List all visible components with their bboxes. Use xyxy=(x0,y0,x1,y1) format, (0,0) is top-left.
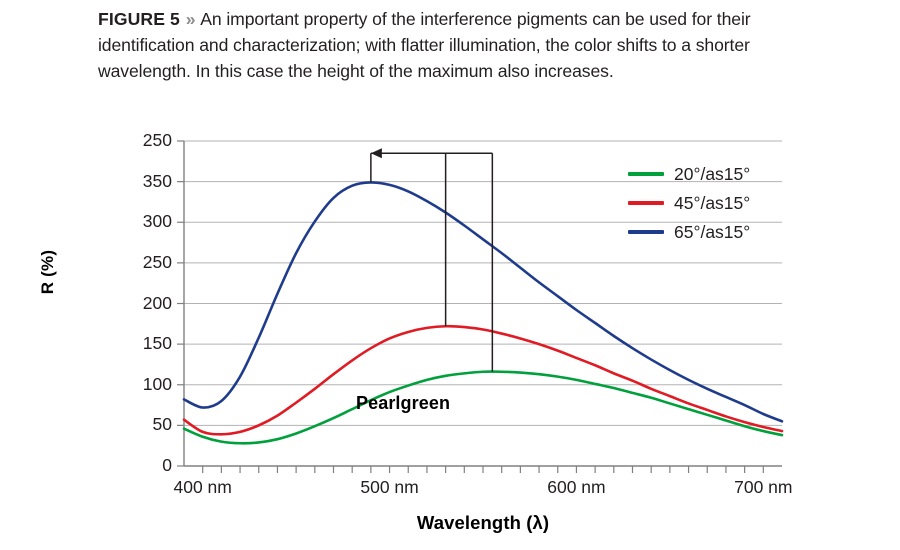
y-axis-title: R (%) xyxy=(38,212,58,332)
y-tick-label: 0 xyxy=(116,455,172,476)
x-tick-label: 600 nm xyxy=(531,477,621,498)
y-tick-label: 150 xyxy=(116,333,172,354)
y-axis-ticks xyxy=(177,141,184,466)
x-tick-label: 500 nm xyxy=(345,477,435,498)
chart-legend: 20°/as15°45°/as15°65°/as15° xyxy=(628,163,750,243)
x-tick-label: 700 nm xyxy=(718,477,808,498)
y-tick-label: 50 xyxy=(116,414,172,435)
pearlgreen-annotation-label: Pearlgreen xyxy=(356,393,450,414)
y-tick-label: 100 xyxy=(116,374,172,395)
shift-arrow-head xyxy=(371,148,382,158)
legend-label: 20°/as15° xyxy=(674,164,750,185)
y-tick-label: 300 xyxy=(116,211,172,232)
legend-item: 20°/as15° xyxy=(628,163,750,185)
chart-container: R (%) Wavelength (λ) 0501001502002503003… xyxy=(0,0,900,550)
y-tick-label: 250 xyxy=(116,130,172,151)
y-tick-label: 250 xyxy=(116,252,172,273)
x-axis-title: Wavelength (λ) xyxy=(184,512,782,534)
x-axis-minor-ticks xyxy=(203,466,764,473)
series-line xyxy=(184,326,782,434)
legend-item: 65°/as15° xyxy=(628,221,750,243)
legend-color-swatch xyxy=(628,201,664,205)
legend-color-swatch xyxy=(628,230,664,234)
legend-label: 65°/as15° xyxy=(674,222,750,243)
y-tick-label: 350 xyxy=(116,171,172,192)
legend-item: 45°/as15° xyxy=(628,192,750,214)
x-tick-label: 400 nm xyxy=(158,477,248,498)
legend-label: 45°/as15° xyxy=(674,193,750,214)
figure-root: FIGURE 5 » An important property of the … xyxy=(0,0,900,550)
legend-color-swatch xyxy=(628,172,664,176)
y-tick-label: 200 xyxy=(116,293,172,314)
